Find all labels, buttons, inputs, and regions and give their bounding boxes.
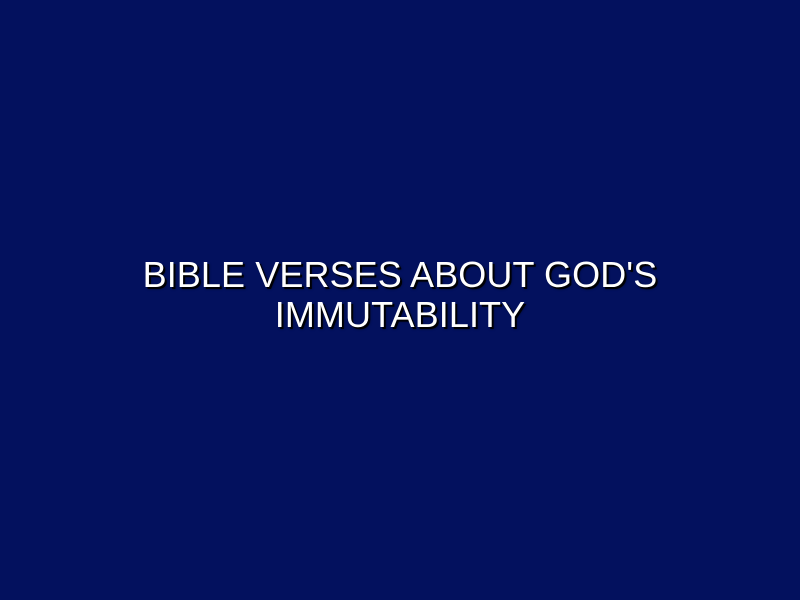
page-title: BIBLE VERSES ABOUT GOD'S IMMUTABILITY <box>140 255 660 335</box>
title-block: BIBLE VERSES ABOUT GOD'S IMMUTABILITY <box>0 255 800 335</box>
title-slide: BIBLE VERSES ABOUT GOD'S IMMUTABILITY <box>0 0 800 600</box>
